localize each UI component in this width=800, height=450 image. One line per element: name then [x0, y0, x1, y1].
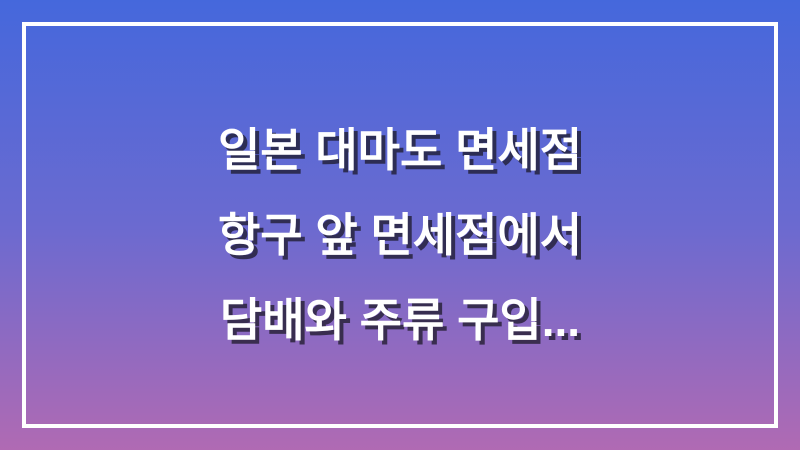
text-card: 일본 대마도 면세점 항구 앞 면세점에서 담배와 주류 구입...: [0, 0, 800, 450]
headline-line-1: 일본 대마도 면세점: [60, 108, 740, 193]
headline-line-2: 항구 앞 면세점에서: [60, 193, 740, 278]
headline-line-3: 담배와 주류 구입...: [60, 278, 740, 363]
headline-text-block: 일본 대마도 면세점 항구 앞 면세점에서 담배와 주류 구입...: [0, 108, 800, 363]
